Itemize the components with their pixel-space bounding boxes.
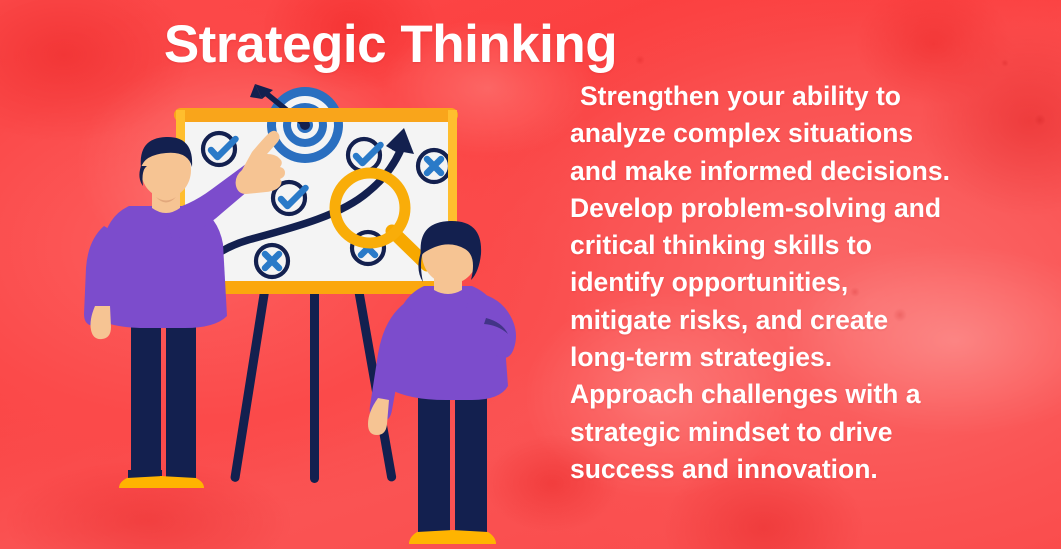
- body-line: and make informed decisions.: [570, 153, 1050, 190]
- body-line: Develop problem-solving and: [570, 190, 1050, 227]
- strategy-planning-illustration: [0, 0, 560, 549]
- body-line: critical thinking skills to: [570, 227, 1050, 264]
- body-line: Strengthen your ability to: [570, 78, 1050, 115]
- body-copy: Strengthen your ability to analyze compl…: [570, 78, 1050, 488]
- body-line: Approach challenges with a: [570, 376, 1050, 413]
- page-title-text: Strategic Thinking: [164, 14, 897, 76]
- person-pointing: [84, 131, 285, 488]
- body-line: analyze complex situations: [570, 115, 1050, 152]
- easel-legs: [230, 288, 397, 483]
- poster-canvas: Strategic Thinking Strengthen your abili…: [0, 0, 1061, 549]
- page-title: Strategic Thinking: [0, 14, 1061, 76]
- body-line: strategic mindset to drive: [570, 414, 1050, 451]
- body-line: success and innovation.: [570, 451, 1050, 488]
- body-line: long-term strategies.: [570, 339, 1050, 376]
- body-line: mitigate risks, and create: [570, 302, 1050, 339]
- body-line: identify opportunities,: [570, 264, 1050, 301]
- whiteboard-top-bar: [174, 108, 458, 122]
